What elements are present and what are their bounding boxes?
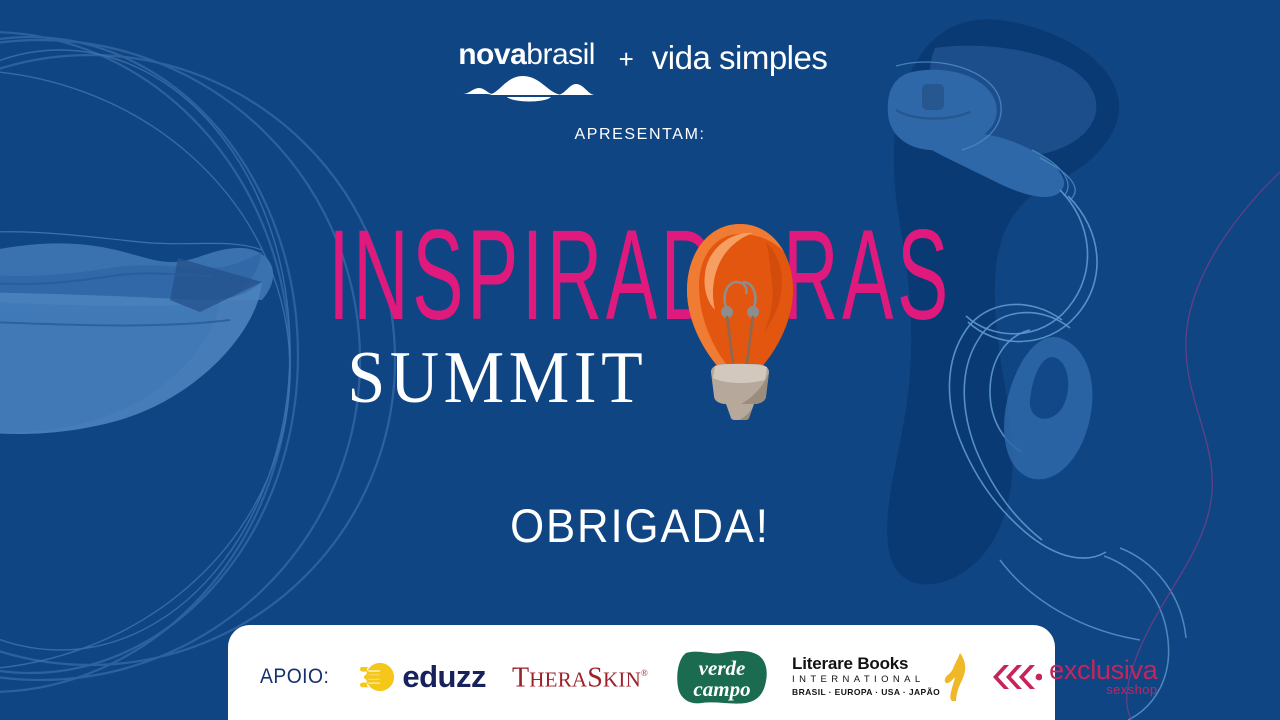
novabrasil-wave-icon [457, 72, 597, 102]
slide-canvas: novabrasil + vida simples APRESENTAM: IN… [0, 0, 1280, 720]
eduzz-wordmark: eduzz [402, 661, 486, 692]
page-title: INSPIRADORAS [256, 212, 1024, 340]
verde-campo-line2: campo [693, 677, 750, 701]
theraskin-t4: KIN [603, 668, 641, 692]
thanks-message: OBRIGADA! [45, 498, 1235, 554]
theraskin-wordmark: THERASKIN® [512, 658, 648, 694]
exclusiva-line1: exclusiva [1049, 657, 1157, 683]
exclusiva-text-block: exclusiva sexshop [1049, 657, 1157, 697]
theraskin-t1: T [512, 663, 529, 694]
sponsor-logo-eduzz[interactable]: eduzz [359, 660, 486, 694]
exclusiva-line2: sexshop [1106, 683, 1157, 697]
sponsor-logo-theraskin[interactable]: THERASKIN® [512, 658, 648, 694]
novabrasil-wordmark: novabrasil [453, 40, 601, 70]
chevrons-icon [992, 664, 1042, 690]
novabrasil-logo: novabrasil [453, 40, 601, 102]
brand-row: novabrasil + vida simples [0, 40, 1280, 102]
page-subtitle: SUMMIT [0, 340, 1086, 416]
nova-bold-text: nova [458, 38, 526, 71]
sponsor-logo-verde-campo[interactable]: verde campo [676, 649, 768, 705]
sponsor-logo-exclusiva[interactable]: exclusiva sexshop [992, 657, 1157, 697]
literare-figure-icon [944, 653, 966, 701]
literare-line2: INTERNATIONAL [792, 673, 925, 686]
header: novabrasil + vida simples APRESENTAM: [0, 40, 1280, 144]
theraskin-registered-mark: ® [641, 668, 648, 678]
sponsor-logo-literare-books[interactable]: Literare Books INTERNATIONAL BRASIL · EU… [792, 653, 966, 701]
eduzz-mark-icon [359, 660, 395, 694]
verde-campo-badge-icon: verde campo [676, 649, 768, 705]
plus-separator: + [619, 42, 634, 76]
sponsor-label: APOIO: [260, 665, 329, 689]
literare-line3: BRASIL · EUROPA · USA · JAPÃO [792, 686, 940, 698]
literare-line1: Literare Books [792, 655, 908, 673]
theraskin-t3: S [587, 663, 603, 694]
brasil-light-text: brasil [526, 38, 595, 71]
literare-text-block: Literare Books INTERNATIONAL BRASIL · EU… [792, 655, 940, 698]
presents-label: APRESENTAM: [0, 126, 1280, 144]
title-block: INSPIRADORAS SUMMIT [0, 212, 1280, 422]
sponsor-bar: APOIO: eduzz THERASKIN® verde [228, 625, 1055, 720]
theraskin-t2: HERA [529, 668, 587, 692]
vidasimples-logo: vida simples [652, 40, 828, 76]
